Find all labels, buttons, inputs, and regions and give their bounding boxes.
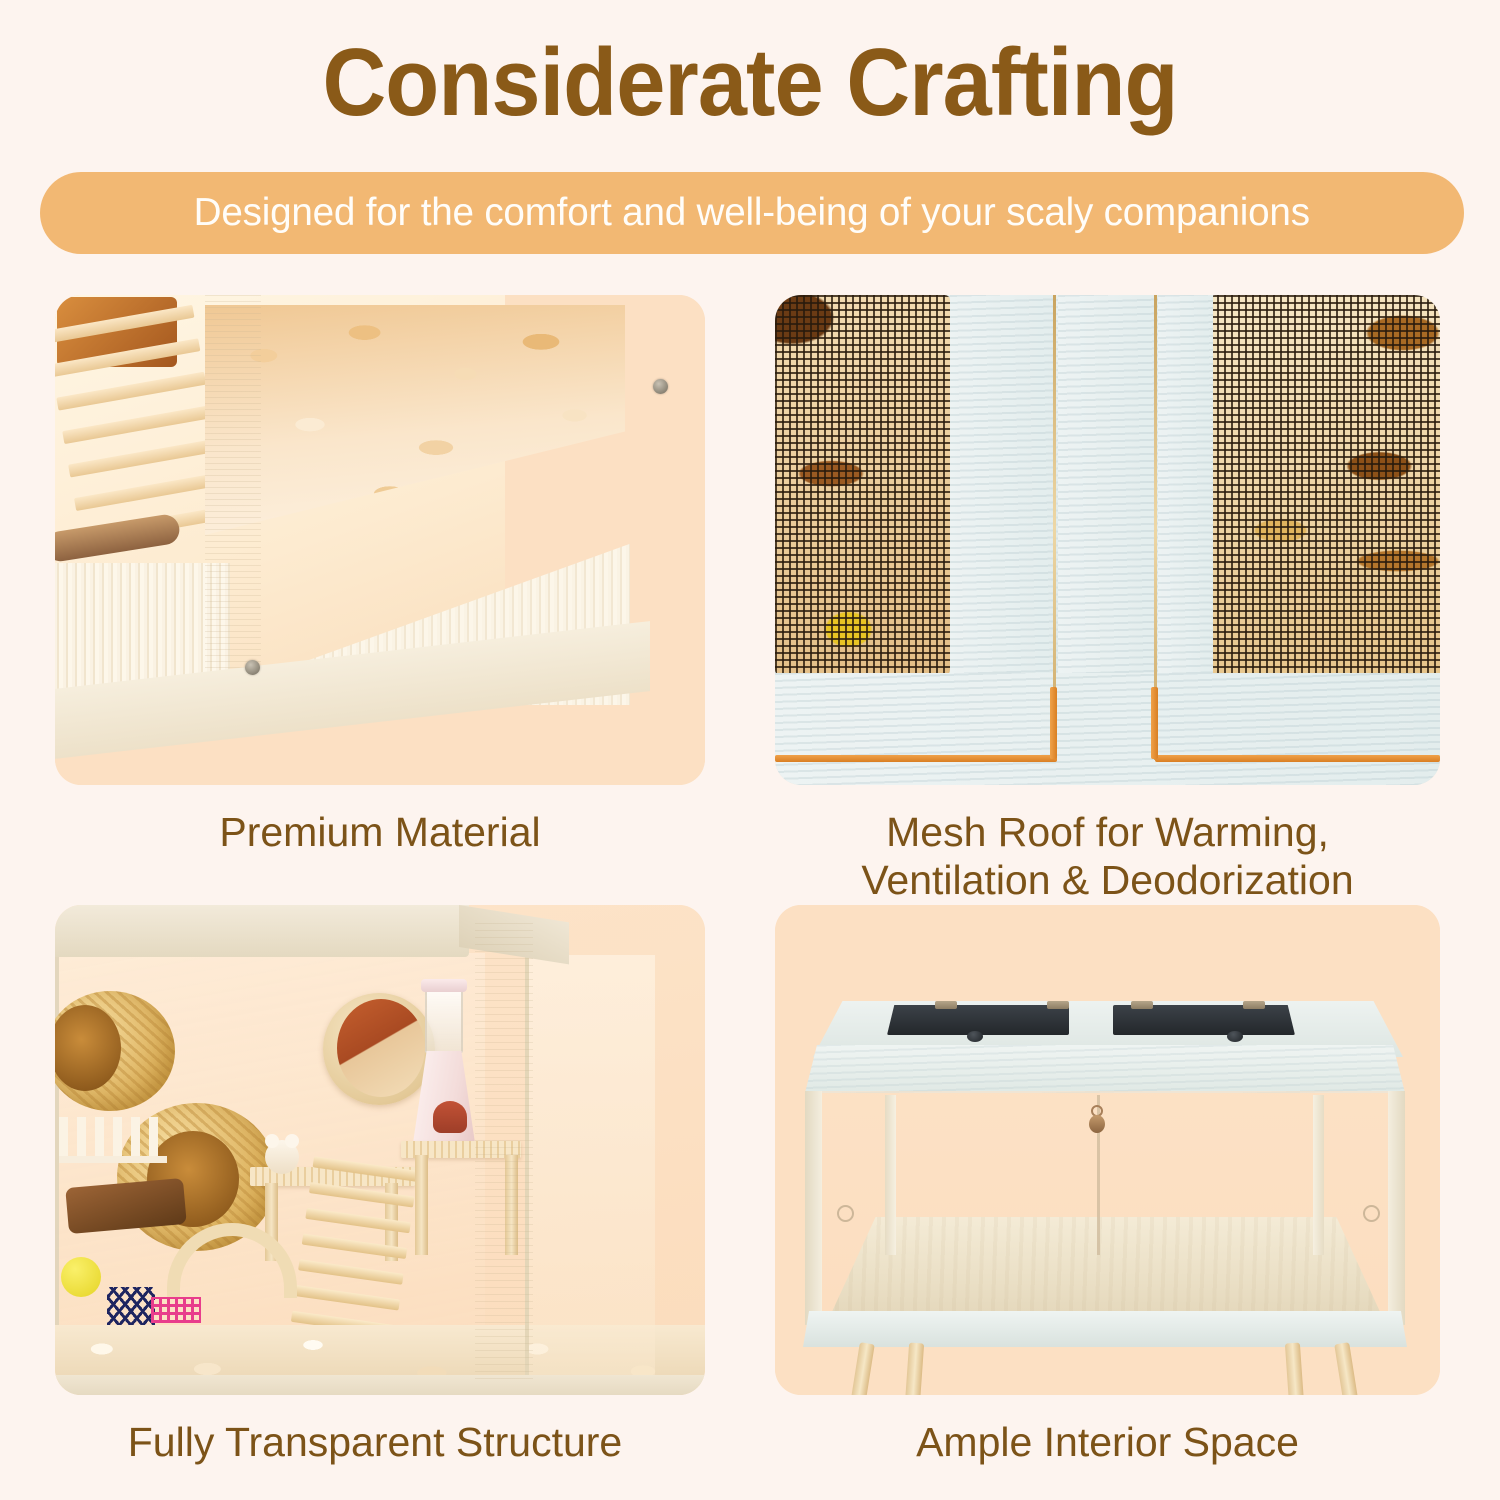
hinge-icon — [1243, 1001, 1265, 1009]
amber-trim-vertical-left — [1050, 687, 1057, 759]
mesh-screen-left — [775, 295, 950, 675]
base-rail — [55, 1375, 705, 1395]
latch-knob-icon — [1089, 1115, 1105, 1133]
hinge-icon — [935, 1001, 957, 1009]
roof-knob-right[interactable] — [1227, 1031, 1243, 1042]
right-clear-panel — [525, 955, 655, 1375]
mesh-panel-right — [1113, 1005, 1295, 1035]
amber-trim-left — [775, 755, 1057, 762]
page-title: Considerate Crafting — [60, 26, 1440, 139]
subtitle-text: Designed for the comfort and well-being … — [194, 191, 1310, 235]
door-latch[interactable] — [1089, 1105, 1105, 1135]
water-bottle-reservoir — [425, 987, 463, 1053]
roof-rail-bottom — [775, 673, 1440, 785]
caption-premium-material: Premium Material — [55, 808, 705, 856]
yellow-ball-toy — [61, 1257, 101, 1297]
pink-lattice-toy — [151, 1297, 201, 1323]
corner-post-right — [1388, 1091, 1405, 1325]
top-band — [805, 1045, 1405, 1093]
screw-icon — [653, 379, 668, 394]
wooden-fence — [59, 1117, 167, 1163]
amber-trim-vertical-right — [1151, 687, 1158, 759]
panel-premium-material — [55, 295, 705, 785]
inner-post-right — [1313, 1095, 1324, 1255]
hinge-icon — [1131, 1001, 1153, 1009]
caption-transparent-structure: Fully Transparent Structure — [45, 1418, 705, 1466]
navy-mesh-toy — [107, 1287, 155, 1327]
panel-transparent-structure — [55, 905, 705, 1395]
subtitle-banner: Designed for the comfort and well-being … — [40, 172, 1464, 254]
vent-hole-right — [1363, 1205, 1380, 1222]
roof-knob-left[interactable] — [967, 1031, 983, 1042]
water-bottle-window — [433, 1101, 467, 1133]
panel-ample-interior-space — [775, 905, 1440, 1395]
corner-post — [475, 923, 533, 1383]
caption-ample-interior-space: Ample Interior Space — [775, 1418, 1440, 1466]
hinge-icon — [1047, 1001, 1069, 1009]
top-rail — [55, 905, 469, 957]
infographic-page: Considerate Crafting Designed for the co… — [0, 0, 1500, 1500]
panel-mesh-roof — [775, 295, 1440, 785]
caption-mesh-roof: Mesh Roof for Warming, Ventilation & Deo… — [765, 808, 1450, 905]
water-bottle-cap — [421, 979, 467, 992]
corner-post-left — [805, 1091, 822, 1325]
inner-post-left — [885, 1095, 896, 1255]
cage-floor — [825, 1217, 1387, 1327]
bear-toy — [265, 1140, 299, 1174]
vent-hole-left — [837, 1205, 854, 1222]
screw-icon — [245, 660, 260, 675]
exercise-wheel-inner — [337, 999, 425, 1097]
mesh-screen-right — [1210, 295, 1440, 675]
base-frame — [803, 1311, 1407, 1347]
amber-trim-right — [1155, 755, 1440, 762]
corner-post — [205, 295, 261, 715]
shelf-leg — [415, 1155, 428, 1255]
